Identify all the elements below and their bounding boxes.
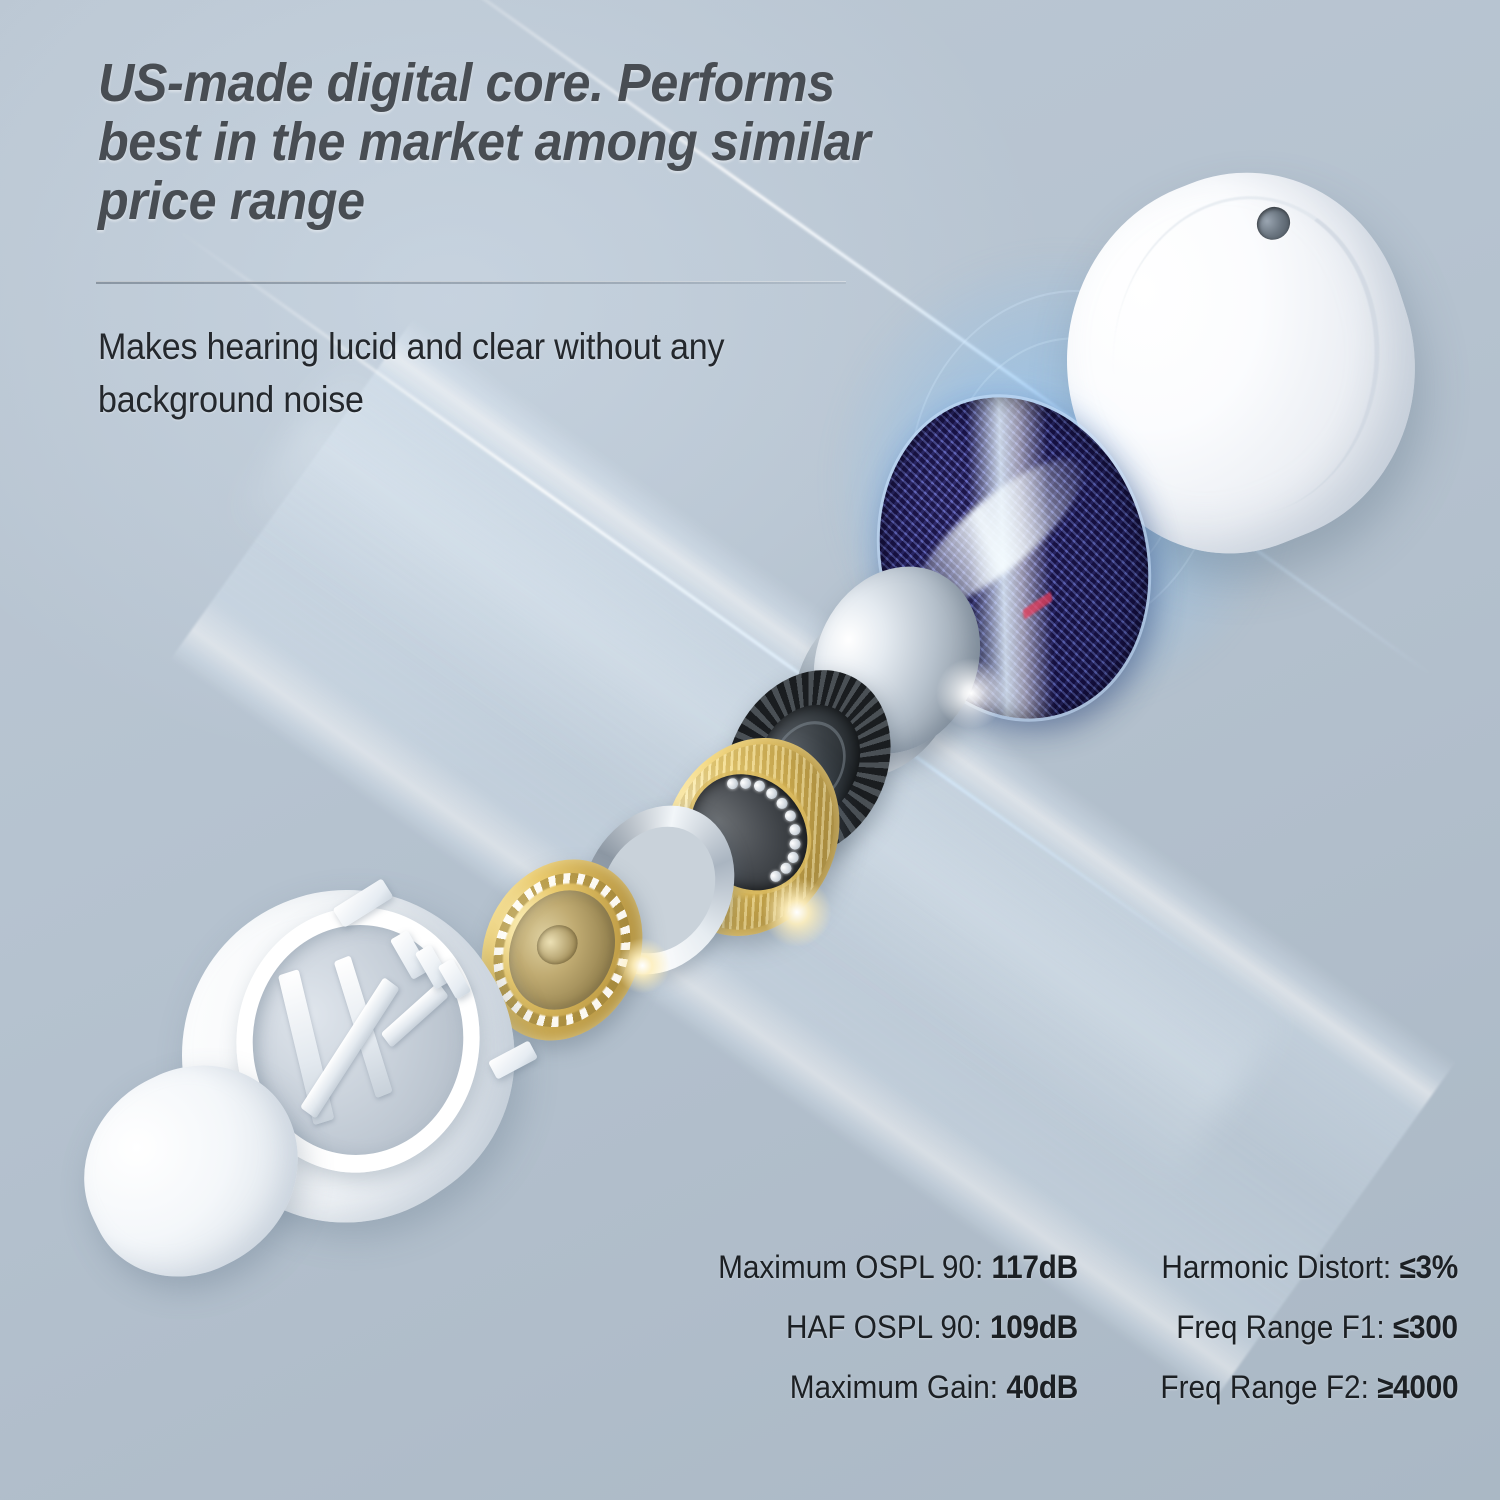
spec-column-left: Maximum OSPL 90: 117dB HAF OSPL 90: 109d…	[700, 1248, 1078, 1406]
spec-row: Freq Range F1: ≤300	[1176, 1308, 1458, 1346]
spec-row: Harmonic Distort: ≤3%	[1161, 1248, 1458, 1286]
spec-label: Freq Range F1:	[1176, 1309, 1393, 1345]
spec-column-right: Harmonic Distort: ≤3% Freq Range F1: ≤30…	[1158, 1248, 1458, 1406]
spec-label: Freq Range F2:	[1160, 1369, 1377, 1405]
spec-label: HAF OSPL 90:	[786, 1309, 990, 1345]
spec-value: 117dB	[992, 1249, 1078, 1285]
spec-label: Maximum OSPL 90:	[718, 1249, 991, 1285]
title-divider	[96, 281, 846, 284]
spec-row: Maximum Gain: 40dB	[790, 1368, 1078, 1406]
white-outer-shell	[72, 880, 542, 1350]
spec-value: ≤300	[1393, 1309, 1458, 1345]
page-title: US-made digital core. Performs best in t…	[98, 54, 935, 231]
page-subtitle: Makes hearing lucid and clear without an…	[98, 320, 908, 426]
spec-label: Maximum Gain:	[790, 1369, 1007, 1405]
spec-value: ≥4000	[1377, 1369, 1458, 1405]
spec-label: Harmonic Distort:	[1161, 1249, 1399, 1285]
spec-row: Freq Range F2: ≥4000	[1160, 1368, 1458, 1406]
spec-value: ≤3%	[1399, 1249, 1458, 1285]
spec-row: HAF OSPL 90: 109dB	[786, 1308, 1078, 1346]
spec-row: Maximum OSPL 90: 117dB	[718, 1248, 1078, 1286]
spec-value: 109dB	[990, 1309, 1078, 1345]
spec-value: 40dB	[1006, 1369, 1078, 1405]
spec-table: Maximum OSPL 90: 117dB HAF OSPL 90: 109d…	[700, 1248, 1460, 1406]
